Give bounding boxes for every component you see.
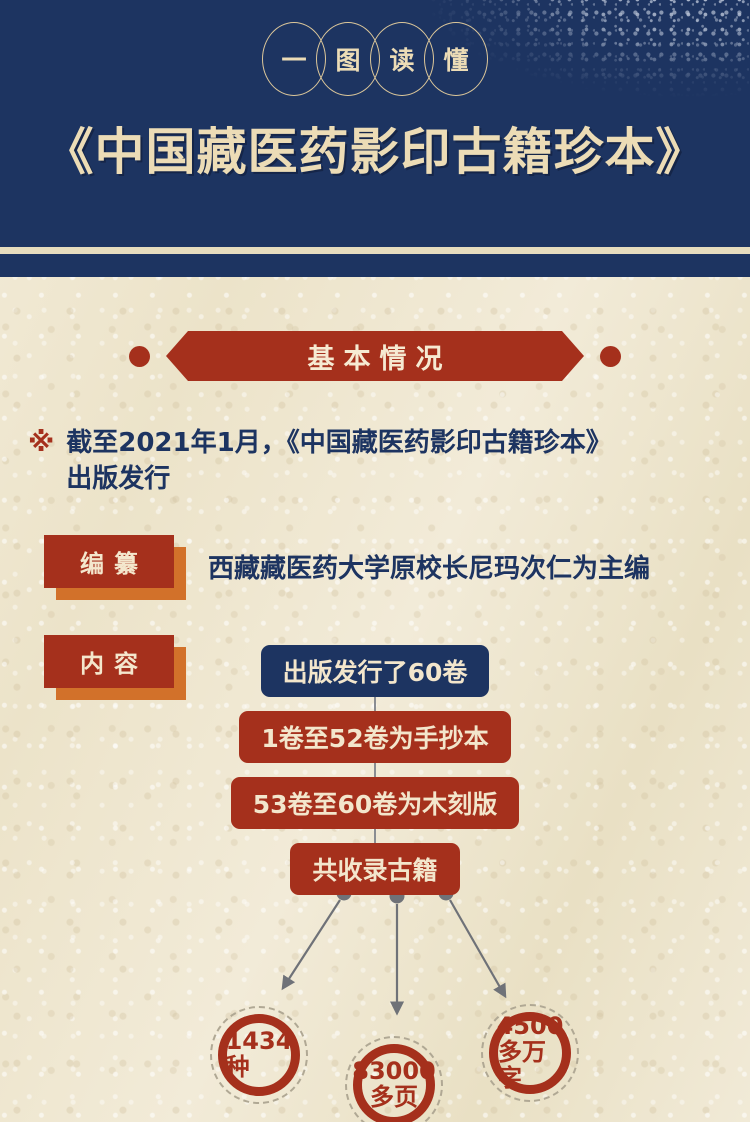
note-text: 截至2021年1月，《中国藏医药影印古籍珍本》 出版发行 (66, 425, 611, 497)
compile-tag-box: 编纂 (44, 535, 174, 588)
stat-circle-3-unit: 多万字 (498, 1040, 562, 1092)
stat-circle-3: 4500 多万字 (481, 1004, 579, 1102)
flow-connector-1 (374, 697, 376, 711)
stat-circle-1-ring: 1434种 (218, 1014, 300, 1096)
flow-row-4: 共收录古籍 (0, 843, 750, 895)
stat-circle-3-ring: 4500 多万字 (489, 1012, 571, 1094)
flow-row-2: 1卷至52卷为手抄本 (0, 711, 750, 763)
flow-box-3: 53卷至60卷为木刻版 (231, 777, 520, 829)
note-line-2: 出版发行 (66, 461, 611, 497)
stat-circle-1: 1434种 (210, 1006, 308, 1104)
stat-circle-2-unit: 多页 (370, 1085, 418, 1111)
stat-circle-2-value: 83000 (352, 1059, 436, 1085)
section-title: 基本情况 (166, 331, 584, 381)
compile-value: 西藏藏医药大学原校长尼玛次仁为主编 (208, 548, 650, 585)
flow-box-1: 出版发行了60卷 (261, 645, 490, 697)
flow-connector-3 (374, 829, 376, 843)
content-tag-label: 内容 (44, 635, 174, 688)
flow-box-4: 共收录古籍 (290, 843, 459, 895)
flow-box-2: 1卷至52卷为手抄本 (239, 711, 510, 763)
compile-tag-label: 编纂 (44, 535, 174, 588)
banner-dot-left (129, 346, 150, 367)
stat-circle-2: 83000 多页 (345, 1036, 443, 1122)
header-banner: 一 图 读 懂 《中国藏医药影印古籍珍本》 (0, 0, 750, 247)
divider-navy-stripe (0, 254, 750, 277)
reference-mark-icon: ※ (28, 425, 54, 459)
stat-circle-2-ring: 83000 多页 (353, 1044, 435, 1122)
divider-cream-stripe (0, 247, 750, 254)
page-title: 《中国藏医药影印古籍珍本》 (0, 112, 750, 184)
badge-circle-4: 懂 (424, 22, 488, 96)
badge-circle-group: 一 图 读 懂 (0, 22, 750, 96)
section-banner: 基本情况 (0, 330, 750, 382)
content-tag-wrap: 内容 (44, 635, 174, 688)
stat-circle-1-value: 1434种 (226, 1029, 293, 1081)
compile-tag-wrap: 编纂 (44, 535, 174, 588)
banner-dot-right (600, 346, 621, 367)
content-tag-box: 内容 (44, 635, 174, 688)
stat-circle-3-value: 4500 (497, 1014, 564, 1040)
flow-connector-2 (374, 763, 376, 777)
flow-row-3: 53卷至60卷为木刻版 (0, 777, 750, 829)
note-block: ※ 截至2021年1月，《中国藏医药影印古籍珍本》 出版发行 (28, 425, 718, 497)
infographic-page: 一 图 读 懂 《中国藏医药影印古籍珍本》 基本情况 ※ 截至2021年1月，《… (0, 0, 750, 1122)
note-line-1: 截至2021年1月，《中国藏医药影印古籍珍本》 (66, 425, 611, 461)
